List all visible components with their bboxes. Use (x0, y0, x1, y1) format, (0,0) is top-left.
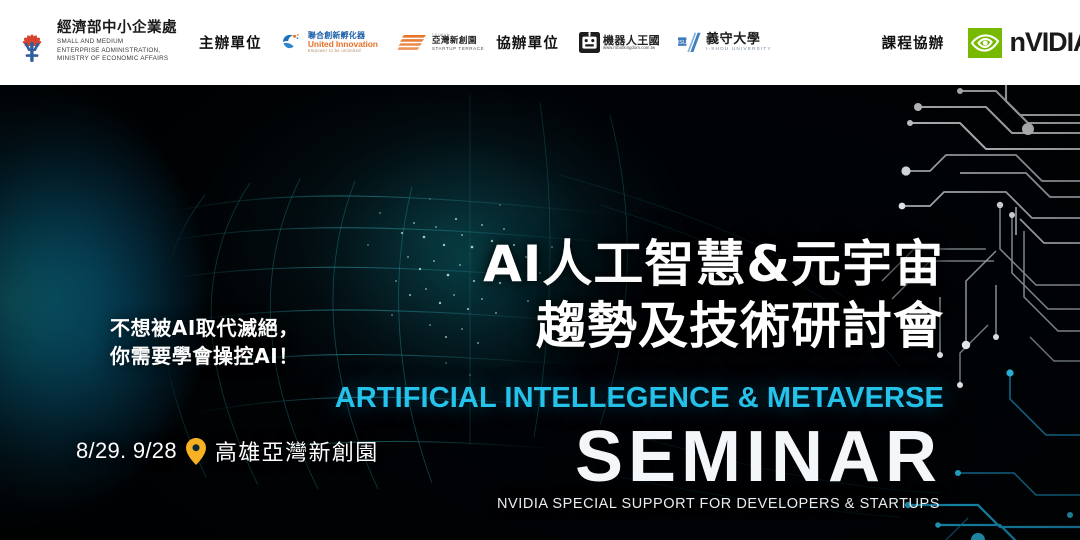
startup-terrace-mark-icon (398, 33, 428, 53)
tagline-line-2: 你需要學會操控AI！ (110, 342, 299, 370)
moea-name-en-2: ENTERPRISE ADMINISTRATION, (57, 47, 177, 56)
event-venue: 高雄亞灣新創園 (215, 435, 379, 467)
tagline-line-1: 不想被AI取代滅絕， (110, 314, 299, 342)
logo-isu: ISU 義守大學 I-SHOU UNIVERSITY (678, 32, 772, 53)
logo-moea: 經濟部中小企業處 SMALL AND MEDIUM ENTERPRISE ADM… (14, 21, 177, 64)
sponsor-header-bar: 經濟部中小企業處 SMALL AND MEDIUM ENTERPRISE ADM… (0, 0, 1080, 85)
venue-row: 8/29. 9/28 高雄亞灣新創園 (76, 435, 379, 467)
robot-kingdom-url[interactable]: www.robotkingdom.com.tw (603, 46, 660, 50)
hero-stage: 不想被AI取代滅絕， 你需要學會操控AI！ 8/29. 9/28 高雄亞灣新創園… (0, 85, 1080, 540)
seminar-wordmark: SEMINAR (575, 421, 942, 493)
title-english: ARTIFICIAL INTELLEGENCE & METAVERSE (335, 382, 944, 415)
course-partner-label: 課程協辦 (882, 32, 945, 53)
united-innovation-mark-icon (282, 33, 304, 51)
coorganizer-label: 協辦單位 (496, 32, 559, 53)
title-chinese: AI人工智慧&元宇宙 趨勢及技術研討會 (483, 233, 944, 357)
logo-nvidia: nVIDIA. (968, 28, 1080, 58)
moea-name-en-3: MINISTRY OF ECONOMIC AFFAIRS (57, 55, 177, 64)
nvidia-word-n: n (1009, 27, 1024, 57)
location-pin-icon (186, 438, 206, 465)
logo-startup-terrace: TAIWAN 亞灣新創園 STARTUP TERRACE (398, 33, 484, 53)
svg-text:ISU: ISU (678, 40, 687, 46)
logo-united-innovation: 聯合創新孵化器 United Innovation Empower to be … (282, 32, 378, 54)
tagline-block: 不想被AI取代滅絕， 你需要學會操控AI！ (110, 314, 299, 371)
nvidia-eye-icon (968, 28, 1002, 58)
startup-terrace-en: STARTUP TERRACE (432, 47, 484, 52)
moea-name-cn: 經濟部中小企業處 (57, 21, 177, 36)
seminar-poster: 經濟部中小企業處 SMALL AND MEDIUM ENTERPRISE ADM… (0, 0, 1080, 540)
isu-mark-icon: ISU (678, 32, 702, 53)
title-cn-line-1: AI人工智慧&元宇宙 (483, 233, 944, 295)
isu-name-en: I-SHOU UNIVERSITY (706, 47, 772, 52)
isu-name-cn: 義守大學 (706, 33, 772, 47)
nvidia-wordmark: nVIDIA. (1009, 29, 1080, 56)
moea-name-en-1: SMALL AND MEDIUM (57, 38, 177, 47)
logo-robot-kingdom: 機器人王國 www.robotkingdom.com.tw (579, 32, 660, 53)
event-date-range: 8/29. 9/28 (76, 438, 177, 464)
organizer-label: 主辦單位 (199, 32, 262, 53)
robot-head-icon (579, 32, 600, 53)
nvidia-word-rest: VIDIA (1025, 27, 1080, 57)
title-cn-line-2: 趨勢及技術研討會 (483, 295, 944, 357)
united-innovation-tagline: Empower to be unlimited (308, 49, 378, 53)
seminar-subtitle: NVIDIA SPECIAL SUPPORT FOR DEVELOPERS & … (497, 496, 940, 512)
moea-emblem-icon (14, 24, 50, 62)
